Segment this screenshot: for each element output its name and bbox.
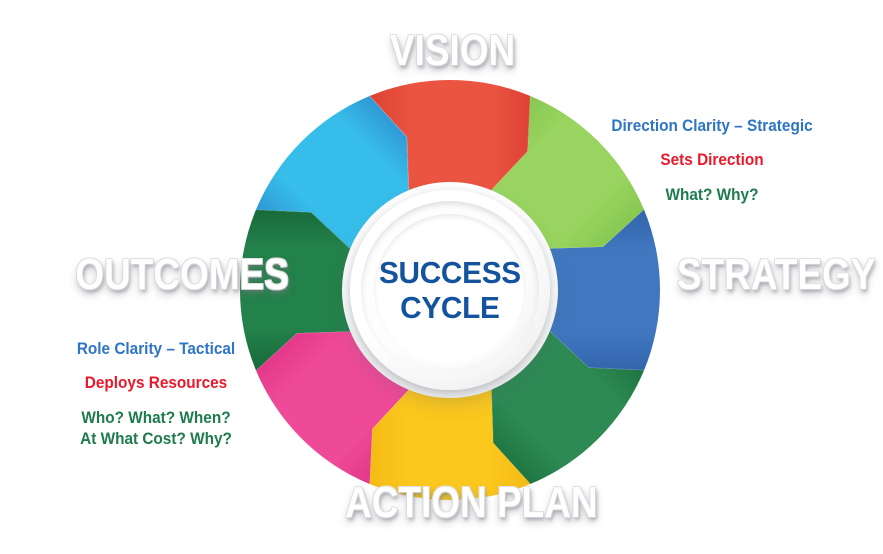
center-hub-ring: SUCCESS CYCLE (361, 201, 539, 379)
quadrant-label-vision: VISION (390, 26, 515, 76)
strategy-caption-heading: Direction Clarity – Strategic (605, 118, 819, 135)
quadrant-label-strategy: STRATEGY (677, 250, 876, 300)
center-hub-text: SUCCESS CYCLE (379, 255, 521, 325)
quadrant-label-outcomes: OUTCOMES (75, 250, 289, 300)
strategy-caption-questions: What? Why? (605, 185, 819, 206)
outcomes-caption-action: Deploys Resources (49, 375, 263, 392)
center-label-line-2: CYCLE (379, 290, 521, 325)
strategy-caption-block: Direction Clarity – Strategic Sets Direc… (597, 118, 827, 206)
outcomes-caption-questions-line-1: Who? What? When? (49, 408, 263, 429)
outcomes-caption-block: Role Clarity – Tactical Deploys Resource… (41, 341, 271, 450)
center-hub: SUCCESS CYCLE (350, 190, 550, 390)
quadrant-label-action-plan: ACTION PLAN (345, 478, 598, 528)
outcomes-caption-heading: Role Clarity – Tactical (49, 341, 263, 358)
strategy-caption-action: Sets Direction (605, 152, 819, 169)
outcomes-caption-questions-line-2: At What Cost? Why? (49, 429, 263, 450)
center-hub-face: SUCCESS CYCLE (374, 214, 526, 366)
center-label-line-1: SUCCESS (379, 255, 521, 290)
diagram-canvas: SUCCESS CYCLE VISION STRATEGY ACTION PLA… (0, 0, 883, 554)
